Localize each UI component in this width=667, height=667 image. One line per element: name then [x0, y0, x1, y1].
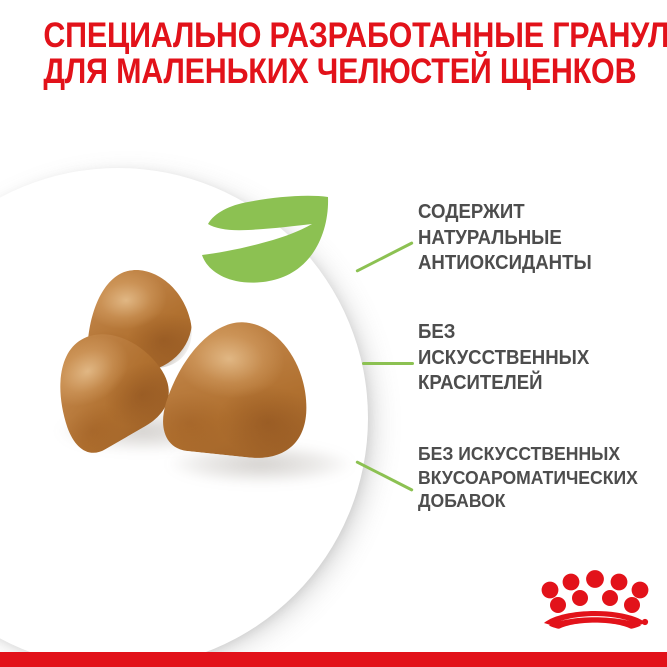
headline-line-2: ДЛЯ МАЛЕНЬКИХ ЧЕЛЮСТЕЙ ЩЕНКОВ [43, 54, 623, 90]
footer-bar [0, 652, 667, 667]
feature-line: СОДЕРЖИТ [418, 200, 592, 226]
connector-line-icon [356, 198, 418, 268]
connector-line-icon [356, 318, 418, 388]
feature-line: АНТИОКСИДАНТЫ [418, 251, 592, 277]
feature-no-artificial-flavours: БЕЗ ИСКУССТВЕННЫХ ВКУСОАРОМАТИЧЕСКИХ ДОБ… [356, 440, 649, 513]
feature-text: БЕЗ ИСКУССТВЕННЫХ ВКУСОАРОМАТИЧЕСКИХ ДОБ… [418, 440, 638, 513]
headline-line-1: СПЕЦИАЛЬНО РАЗРАБОТАННЫЕ ГРАНУЛЫ [43, 18, 623, 54]
page-title: СПЕЦИАЛЬНО РАЗРАБОТАННЫЕ ГРАНУЛЫ ДЛЯ МАЛ… [0, 18, 667, 89]
feature-line: ДОБАВОК [418, 489, 638, 513]
feature-no-artificial-colours: БЕЗ ИСКУССТВЕННЫХ КРАСИТЕЛЕЙ [356, 318, 602, 397]
promo-banner: СПЕЦИАЛЬНО РАЗРАБОТАННЫЕ ГРАНУЛЫ ДЛЯ МАЛ… [0, 0, 667, 667]
feature-line: ИСКУССТВЕННЫХ [418, 346, 589, 372]
feature-line: НАТУРАЛЬНЫЕ [418, 226, 592, 252]
feature-line: БЕЗ ИСКУССТВЕННЫХ [418, 442, 638, 466]
connector-line-icon [356, 440, 418, 510]
feature-line: ВКУСОАРОМАТИЧЕСКИХ [418, 466, 638, 490]
feature-text: СОДЕРЖИТ НАТУРАЛЬНЫЕ АНТИОКСИДАНТЫ [418, 198, 592, 277]
kibble-pieces [48, 268, 338, 468]
feature-line: БЕЗ [418, 320, 589, 346]
feature-natural-antioxidants: СОДЕРЖИТ НАТУРАЛЬНЫЕ АНТИОКСИДАНТЫ [356, 198, 605, 277]
feature-line: КРАСИТЕЛЕЙ [418, 371, 589, 397]
royal-canin-crown-logo [541, 567, 649, 629]
feature-text: БЕЗ ИСКУССТВЕННЫХ КРАСИТЕЛЕЙ [418, 318, 589, 397]
